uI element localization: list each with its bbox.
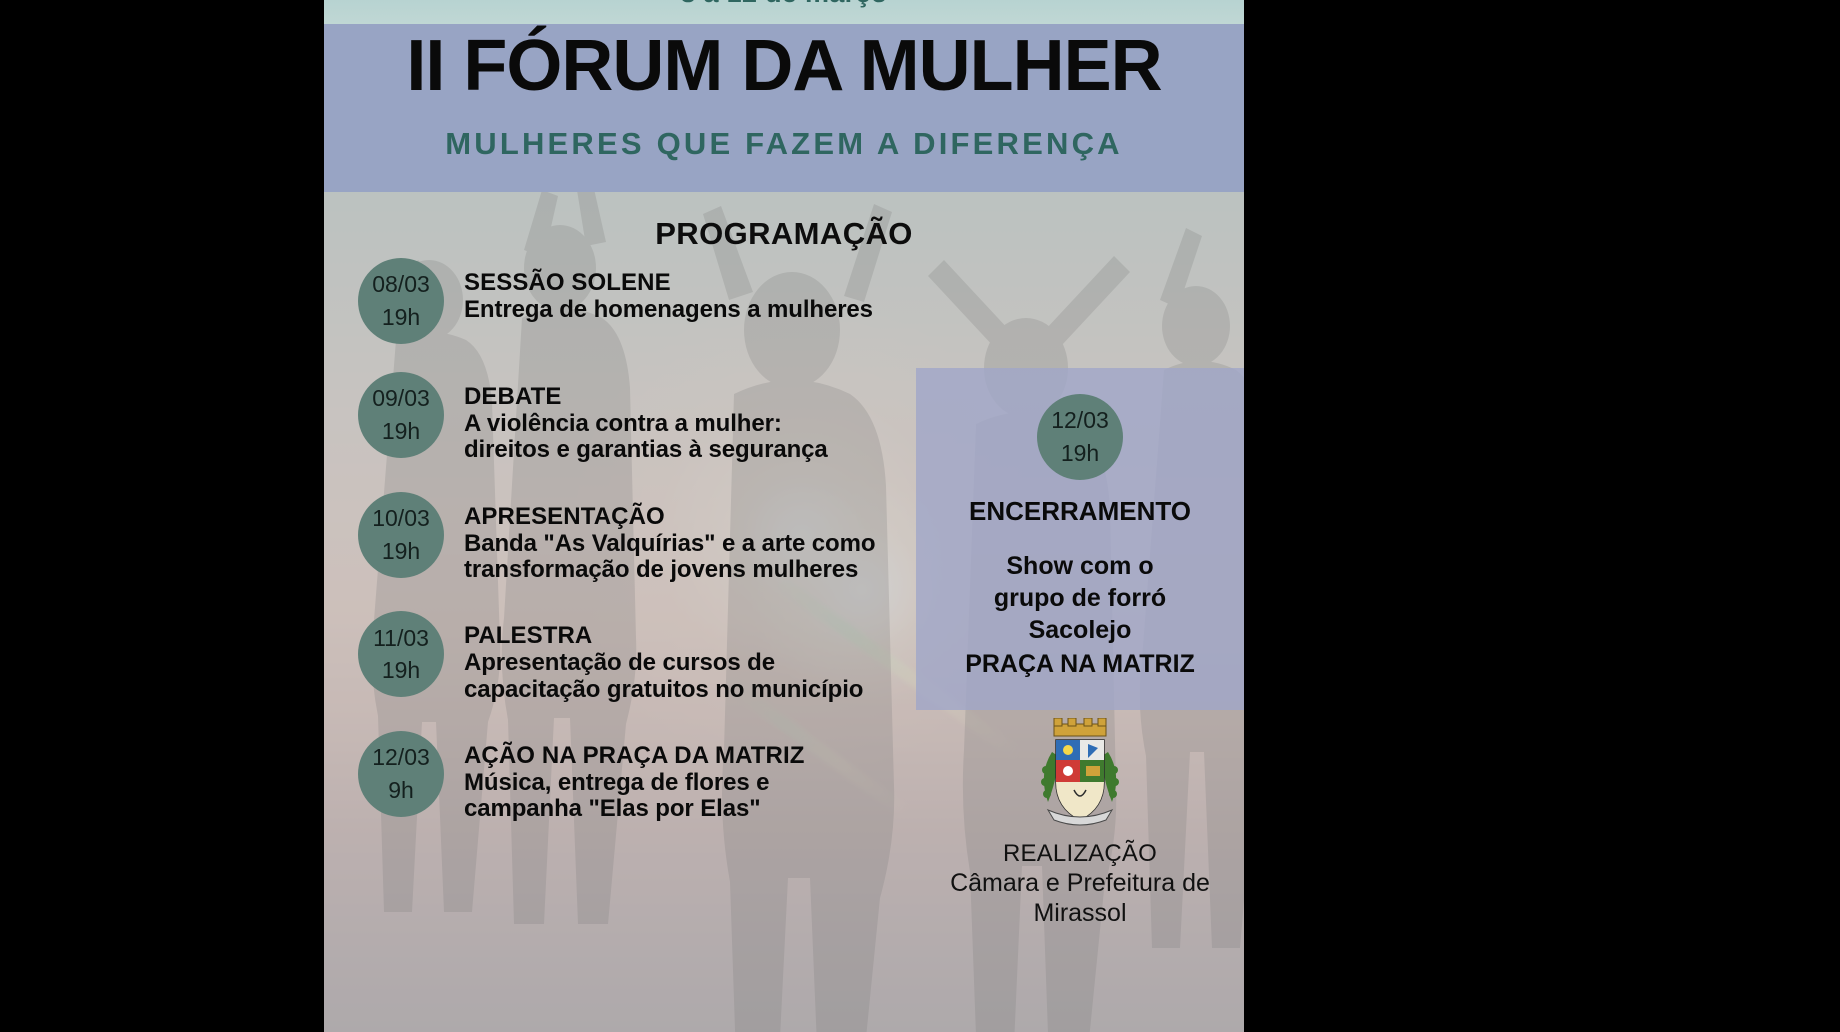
- schedule-item-title: SESSÃO SOLENE: [464, 270, 873, 297]
- schedule-date-badge: 12/039h: [358, 731, 444, 817]
- schedule-date: 10/03: [372, 502, 430, 535]
- schedule-item-description: Banda "As Valquírias" e a arte comotrans…: [464, 531, 875, 584]
- program-heading: PROGRAMAÇÃO: [324, 216, 1244, 252]
- event-poster: 8 a 12 de março II FÓRUM DA MULHER MULHE…: [324, 0, 1244, 1032]
- schedule-item-title: AÇÃO NA PRAÇA DA MATRIZ: [464, 743, 805, 770]
- closing-title: ENCERRAMENTO: [916, 496, 1244, 527]
- schedule-date-badge: 10/0319h: [358, 492, 444, 578]
- closing-body: Show com ogrupo de forróSacolejo: [916, 550, 1244, 646]
- schedule-text: APRESENTAÇÃOBanda "As Valquírias" e a ar…: [444, 492, 875, 584]
- schedule-date: 08/03: [372, 268, 430, 301]
- schedule-time: 9h: [388, 774, 414, 807]
- schedule-item-description: Música, entrega de flores ecampanha "Ela…: [464, 770, 805, 823]
- realization-label: REALIZAÇÃO: [916, 840, 1244, 868]
- schedule-time: 19h: [382, 654, 420, 687]
- schedule-list: 08/0319hSESSÃO SOLENEEntrega de homenage…: [358, 258, 958, 823]
- schedule-text: AÇÃO NA PRAÇA DA MATRIZMúsica, entrega d…: [444, 731, 805, 823]
- screenshot-canvas: 8 a 12 de março II FÓRUM DA MULHER MULHE…: [0, 0, 1840, 1032]
- schedule-item-title: APRESENTAÇÃO: [464, 504, 875, 531]
- schedule-item-description: Entrega de homenagens a mulheres: [464, 297, 873, 323]
- closing-time: 19h: [1061, 437, 1099, 470]
- schedule-item-title: DEBATE: [464, 384, 828, 411]
- schedule-text: SESSÃO SOLENEEntrega de homenagens a mul…: [444, 258, 873, 323]
- organizers: Câmara e Prefeitura de Mirassol: [916, 868, 1244, 928]
- schedule-time: 19h: [382, 415, 420, 448]
- poster-subtitle: MULHERES QUE FAZEM A DIFERENÇA: [324, 126, 1244, 162]
- schedule-time: 19h: [382, 535, 420, 568]
- closing-date: 12/03: [1051, 404, 1109, 437]
- schedule-item: 12/039hAÇÃO NA PRAÇA DA MATRIZMúsica, en…: [358, 731, 958, 823]
- schedule-text: PALESTRAApresentação de cursos decapacit…: [444, 611, 863, 703]
- schedule-text: DEBATEA violência contra a mulher:direit…: [444, 372, 828, 464]
- schedule-date-badge: 11/0319h: [358, 611, 444, 697]
- schedule-date-badge: 08/0319h: [358, 258, 444, 344]
- schedule-item-title: PALESTRA: [464, 623, 863, 650]
- schedule-date: 12/03: [372, 741, 430, 774]
- coat-of-arms-icon: [1030, 718, 1130, 830]
- schedule-item-description: Apresentação de cursos decapacitação gra…: [464, 650, 863, 703]
- poster-title: II FÓRUM DA MULHER: [324, 30, 1244, 102]
- schedule-date: 09/03: [372, 382, 430, 415]
- schedule-date-badge: 09/0319h: [358, 372, 444, 458]
- closing-date-badge: 12/03 19h: [1037, 394, 1123, 480]
- schedule-item: 08/0319hSESSÃO SOLENEEntrega de homenage…: [358, 258, 958, 344]
- schedule-time: 19h: [382, 301, 420, 334]
- poster-footer: REALIZAÇÃO Câmara e Prefeitura de Mirass…: [916, 718, 1244, 928]
- schedule-item-description: A violência contra a mulher:direitos e g…: [464, 411, 828, 464]
- schedule-item: 11/0319hPALESTRAApresentação de cursos d…: [358, 611, 958, 703]
- closing-place: PRAÇA NA MATRIZ: [916, 650, 1244, 679]
- closing-panel: 12/03 19h ENCERRAMENTO Show com ogrupo d…: [916, 368, 1244, 710]
- schedule-item: 10/0319hAPRESENTAÇÃOBanda "As Valquírias…: [358, 492, 958, 584]
- schedule-item: 09/0319hDEBATEA violência contra a mulhe…: [358, 372, 958, 464]
- top-date-strip: 8 a 12 de março: [324, 0, 1244, 24]
- schedule-date: 11/03: [373, 622, 429, 655]
- event-date-range: 8 a 12 de março: [324, 0, 1244, 9]
